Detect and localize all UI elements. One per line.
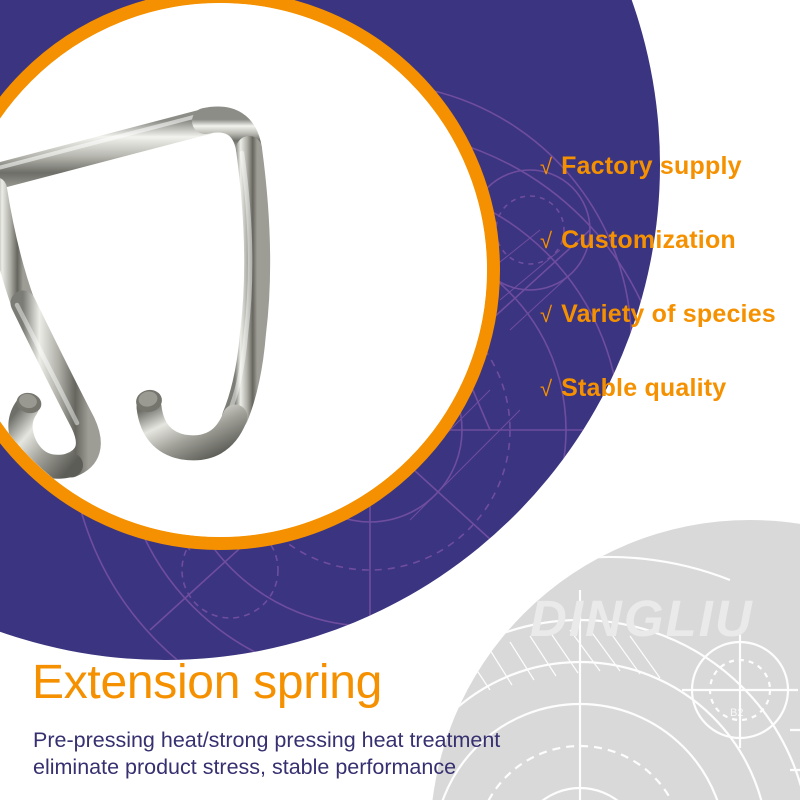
check-icon: √ xyxy=(540,378,552,400)
product-photo-frame xyxy=(0,0,500,550)
page-title: Extension spring xyxy=(32,655,382,710)
brand-watermark: DINGLIU xyxy=(530,589,754,648)
feature-label-1: Customization xyxy=(561,226,736,255)
feature-label-3: Stable quality xyxy=(561,374,726,403)
feature-item-0: √ Factory supply xyxy=(540,152,790,226)
feature-label-0: Factory supply xyxy=(561,152,742,181)
feature-item-2: √ Variety of species xyxy=(540,300,790,374)
check-icon: √ xyxy=(540,230,552,252)
extension-spring-illustration xyxy=(0,3,487,537)
check-icon: √ xyxy=(540,304,552,326)
product-photo xyxy=(0,3,487,537)
page-subtitle: Pre-pressing heat/strong pressing heat t… xyxy=(33,727,500,782)
product-banner: B2 B3 xyxy=(0,0,800,800)
feature-item-3: √ Stable quality xyxy=(540,374,790,448)
feature-label-2: Variety of species xyxy=(561,300,776,329)
feature-item-1: √ Customization xyxy=(540,226,790,300)
check-icon: √ xyxy=(540,156,552,178)
blueprint-label-b2: B2 xyxy=(730,707,743,719)
feature-list: √ Factory supply √ Customization √ Varie… xyxy=(540,152,790,448)
